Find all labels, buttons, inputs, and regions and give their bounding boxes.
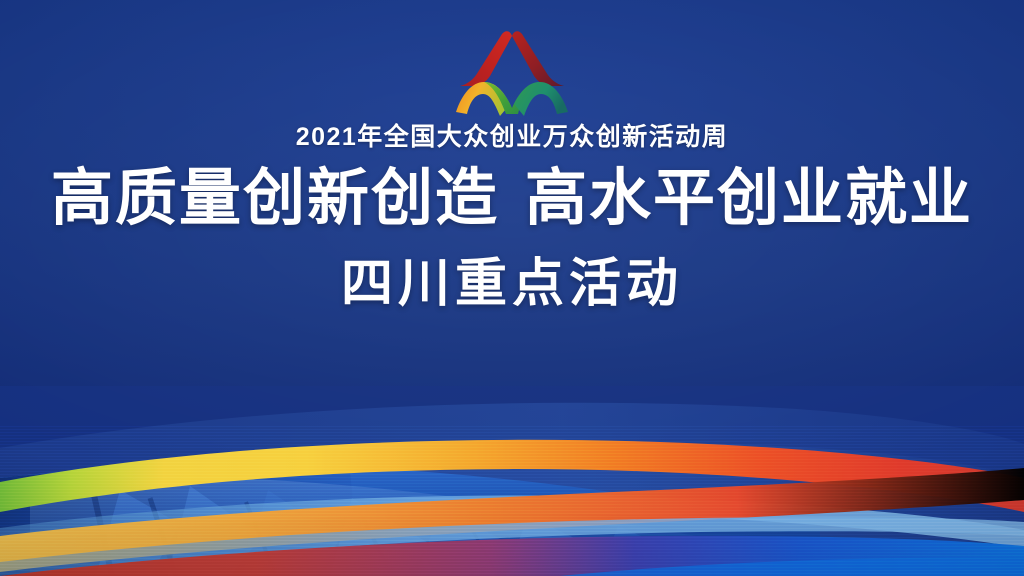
banner-subtitle: 2021年全国大众创业万众创新活动周 [0,124,1024,152]
headline-left: 高质量创新创造 [51,164,499,233]
shuangchuang-week-logo [450,24,574,120]
banner-text-block: 2021年全国大众创业万众创新活动周 高质量创新创造高水平创业就业 四川重点活动 [0,124,1024,315]
banner-canvas: 2021年全国大众创业万众创新活动周 高质量创新创造高水平创业就业 四川重点活动 [0,0,1024,576]
headline-right: 高水平创业就业 [525,164,973,233]
banner-headline: 高质量创新创造高水平创业就业 [0,164,1024,233]
banner-subhead: 四川重点活动 [0,255,1024,315]
